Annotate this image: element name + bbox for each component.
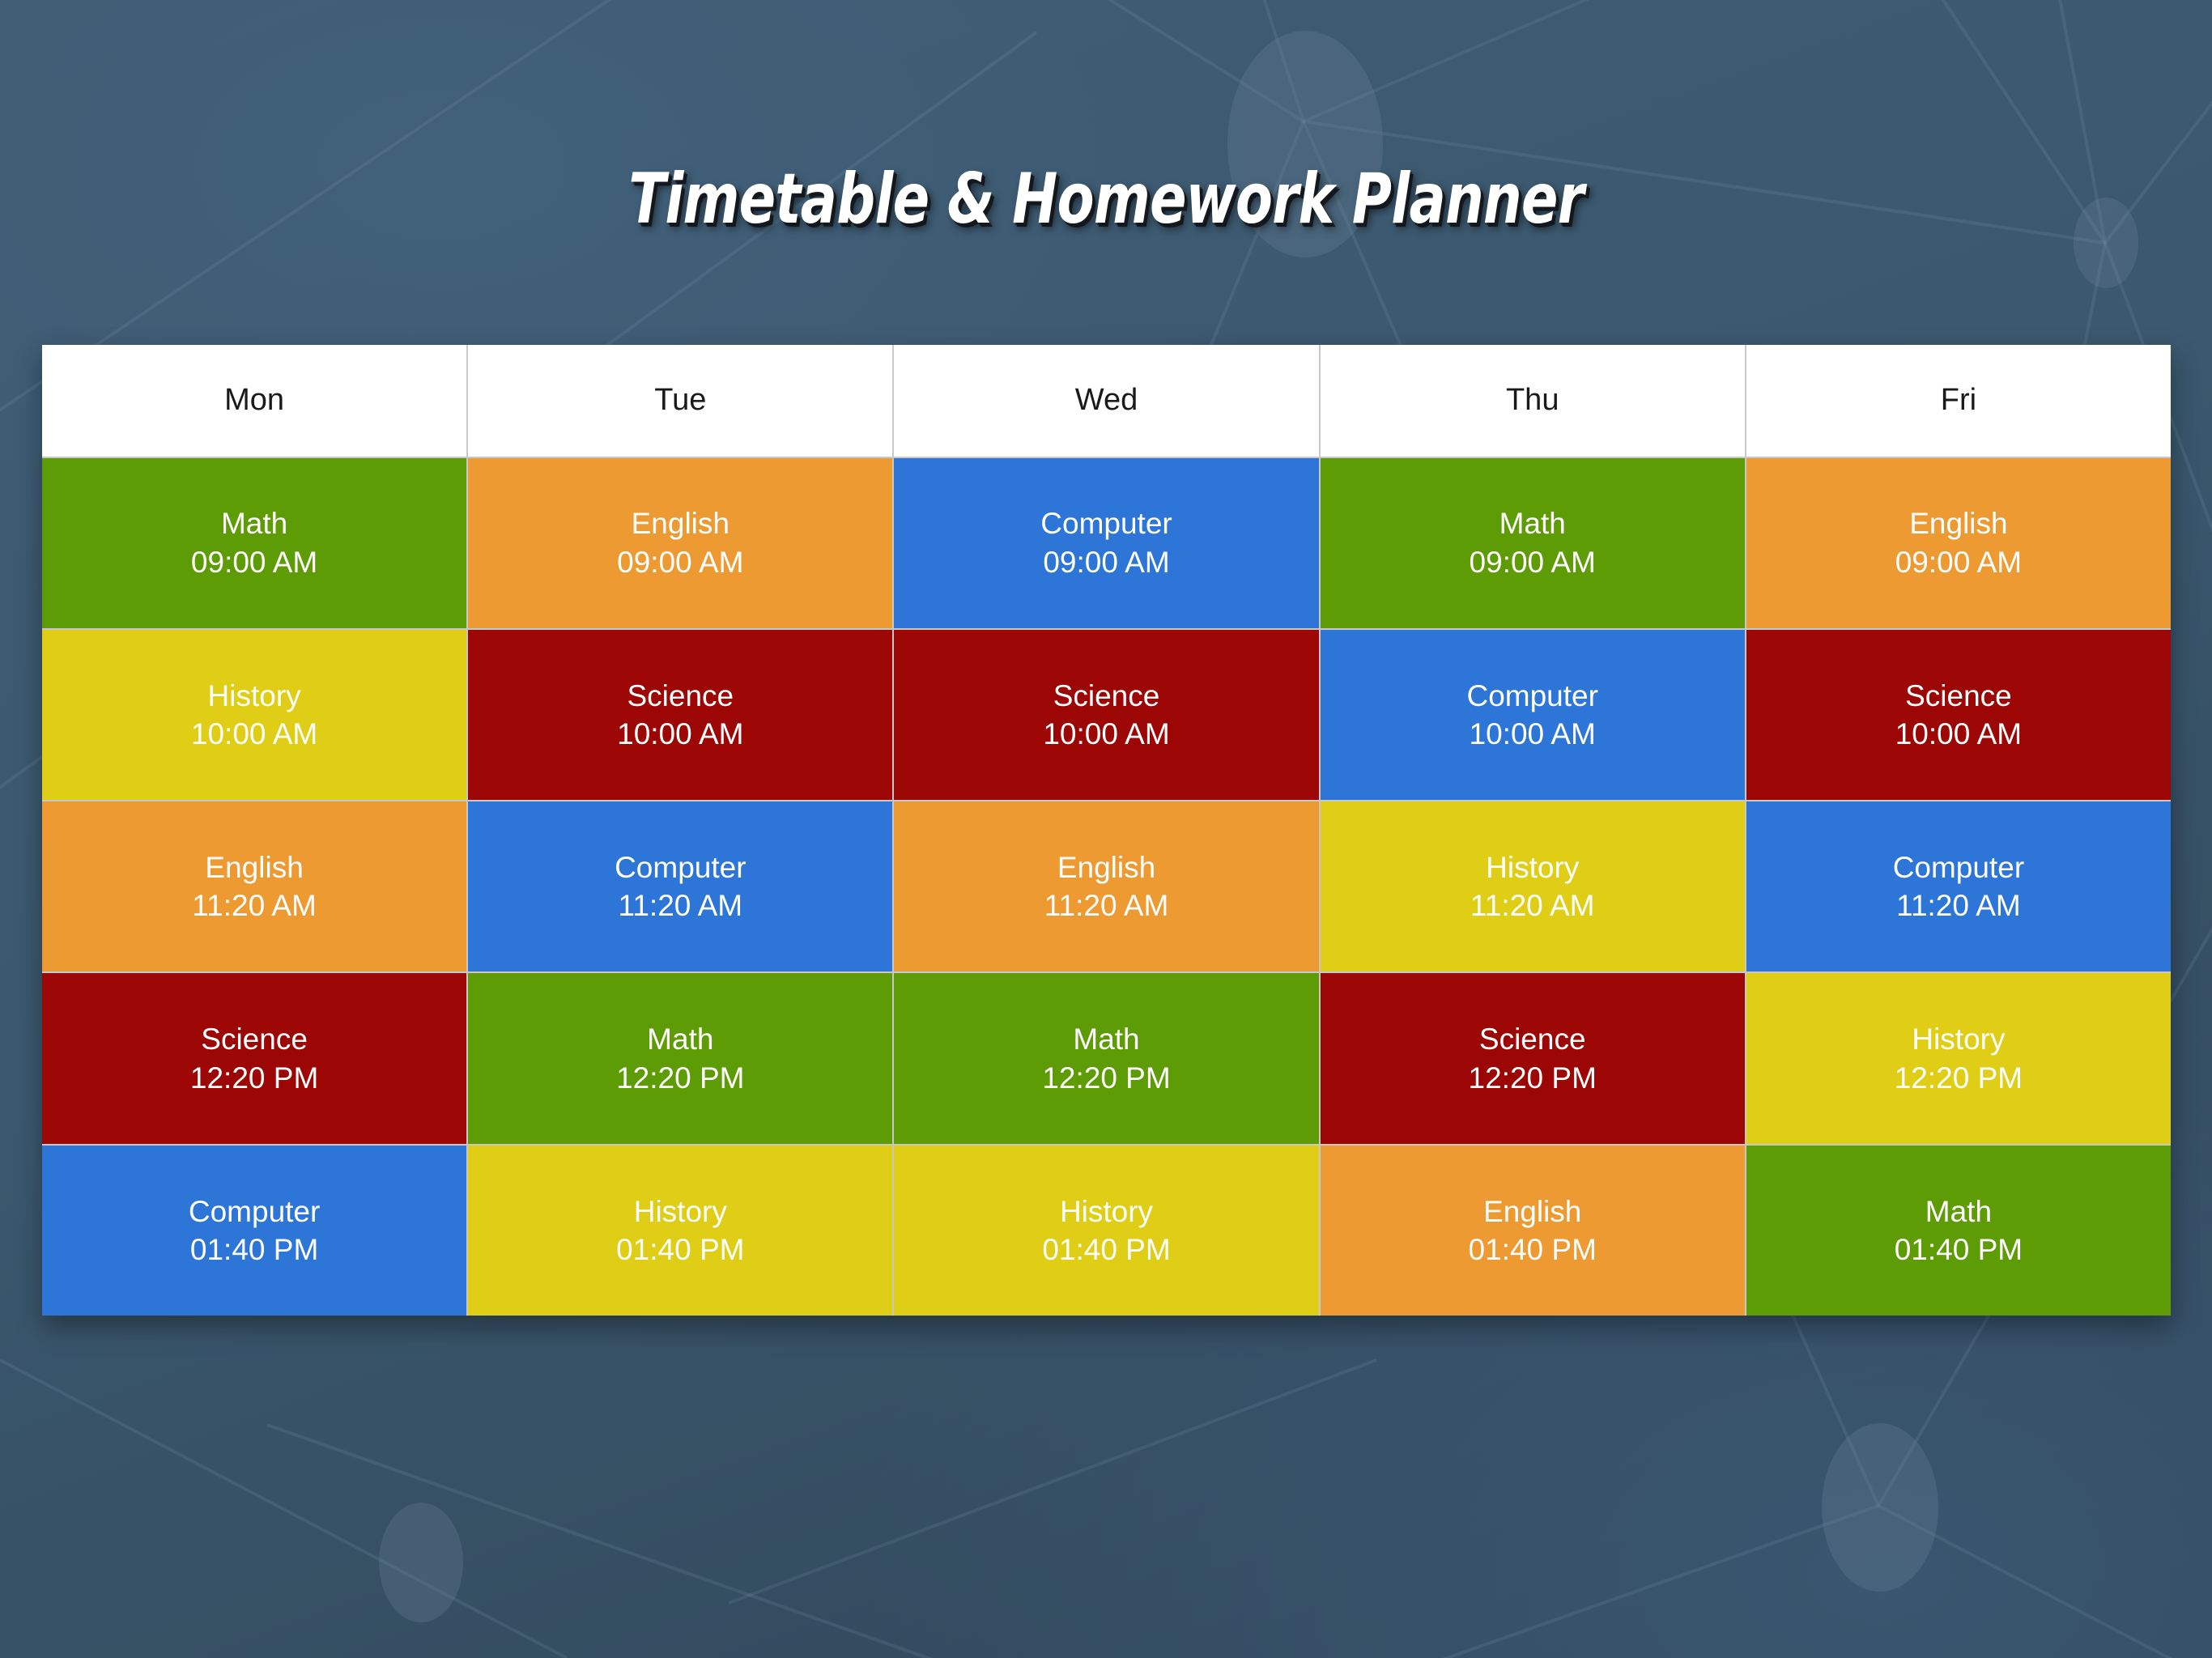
day-header-thu: Thu [1321,345,1746,457]
class-cell[interactable]: Computer 09:00 AM [894,458,1318,628]
timetable-row: English 11:20 AM Computer 11:20 AM Engli… [42,801,2171,971]
class-time: 01:40 PM [1469,1231,1597,1269]
class-subject: Computer [1893,848,2024,886]
class-time: 10:00 AM [617,715,743,753]
class-time: 01:40 PM [1895,1231,2023,1269]
class-subject: History [634,1192,727,1231]
timetable-grid: Mon Tue Wed Thu Fri Math 09:00 AM Englis… [42,345,2171,1316]
class-cell[interactable]: Science 10:00 AM [894,630,1318,800]
class-time: 09:00 AM [1043,543,1169,581]
class-cell[interactable]: History 11:20 AM [1321,801,1745,971]
class-subject: English [205,848,303,886]
day-header-tue: Tue [468,345,894,457]
class-subject: Science [1053,677,1160,715]
class-subject: Computer [1040,504,1172,542]
class-subject: Computer [615,848,746,886]
class-cell[interactable]: History 01:40 PM [894,1146,1318,1316]
class-subject: Math [221,504,287,542]
class-cell[interactable]: Math 09:00 AM [1321,458,1745,628]
class-subject: History [1912,1020,2005,1058]
class-subject: History [1486,848,1579,886]
class-time: 11:20 AM [619,886,743,925]
class-time: 12:20 PM [616,1059,744,1097]
class-subject: Math [1925,1192,1992,1231]
class-time: 09:00 AM [1470,543,1596,581]
class-cell[interactable]: English 11:20 AM [894,801,1318,971]
class-time: 09:00 AM [617,543,743,581]
class-time: 09:00 AM [191,543,317,581]
class-cell[interactable]: Computer 11:20 AM [468,801,892,971]
class-subject: Science [201,1020,308,1058]
class-cell[interactable]: Math 09:00 AM [42,458,466,628]
day-header-wed: Wed [894,345,1320,457]
class-cell[interactable]: Math 01:40 PM [1746,1146,2171,1316]
class-subject: English [632,504,730,542]
class-time: 12:20 PM [1469,1059,1597,1097]
day-header-mon: Mon [42,345,468,457]
class-cell[interactable]: Computer 11:20 AM [1746,801,2171,971]
class-time: 12:20 PM [1042,1059,1170,1097]
class-time: 01:40 PM [1042,1231,1170,1269]
class-time: 10:00 AM [191,715,317,753]
class-subject: Computer [189,1192,320,1231]
class-cell[interactable]: English 09:00 AM [1746,458,2171,628]
class-time: 10:00 AM [1470,715,1596,753]
class-subject: English [1909,504,2007,542]
page-title-container: Timetable & Homework Planner [0,159,2212,240]
class-subject: Science [1905,677,2012,715]
timetable-row: Computer 01:40 PM History 01:40 PM Histo… [42,1146,2171,1316]
class-cell[interactable]: History 01:40 PM [468,1146,892,1316]
class-cell[interactable]: Science 12:20 PM [42,973,466,1143]
class-time: 12:20 PM [1895,1059,2023,1097]
class-subject: English [1483,1192,1581,1231]
timetable-row: Science 12:20 PM Math 12:20 PM Math 12:2… [42,973,2171,1143]
class-cell[interactable]: History 12:20 PM [1746,973,2171,1143]
class-cell[interactable]: Math 12:20 PM [894,973,1318,1143]
class-time: 11:20 AM [1044,886,1169,925]
class-cell[interactable]: Science 12:20 PM [1321,973,1745,1143]
class-subject: English [1057,848,1155,886]
class-subject: History [208,677,301,715]
class-cell[interactable]: Science 10:00 AM [468,630,892,800]
timetable-row: Math 09:00 AM English 09:00 AM Computer … [42,458,2171,628]
class-time: 10:00 AM [1895,715,2022,753]
timetable-row: History 10:00 AM Science 10:00 AM Scienc… [42,630,2171,800]
class-cell[interactable]: English 01:40 PM [1321,1146,1745,1316]
class-time: 10:00 AM [1043,715,1169,753]
class-subject: Math [1073,1020,1139,1058]
class-subject: History [1060,1192,1153,1231]
class-time: 09:00 AM [1895,543,2022,581]
class-cell[interactable]: Math 12:20 PM [468,973,892,1143]
class-cell[interactable]: Computer 10:00 AM [1321,630,1745,800]
class-time: 01:40 PM [616,1231,744,1269]
class-cell[interactable]: English 11:20 AM [42,801,466,971]
class-subject: Math [1499,504,1566,542]
timetable-header-row: Mon Tue Wed Thu Fri [42,345,2171,457]
class-time: 11:20 AM [1896,886,2021,925]
class-subject: Computer [1466,677,1597,715]
class-subject: Math [647,1020,713,1058]
class-time: 12:20 PM [190,1059,318,1097]
class-subject: Science [627,677,734,715]
class-subject: Science [1479,1020,1586,1058]
class-cell[interactable]: English 09:00 AM [468,458,892,628]
class-cell[interactable]: Science 10:00 AM [1746,630,2171,800]
class-time: 11:20 AM [1470,886,1595,925]
class-cell[interactable]: Computer 01:40 PM [42,1146,466,1316]
page-title: Timetable & Homework Planner [628,159,1584,240]
day-header-fri: Fri [1746,345,2171,457]
class-time: 01:40 PM [190,1231,318,1269]
class-time: 11:20 AM [192,886,317,925]
class-cell[interactable]: History 10:00 AM [42,630,466,800]
